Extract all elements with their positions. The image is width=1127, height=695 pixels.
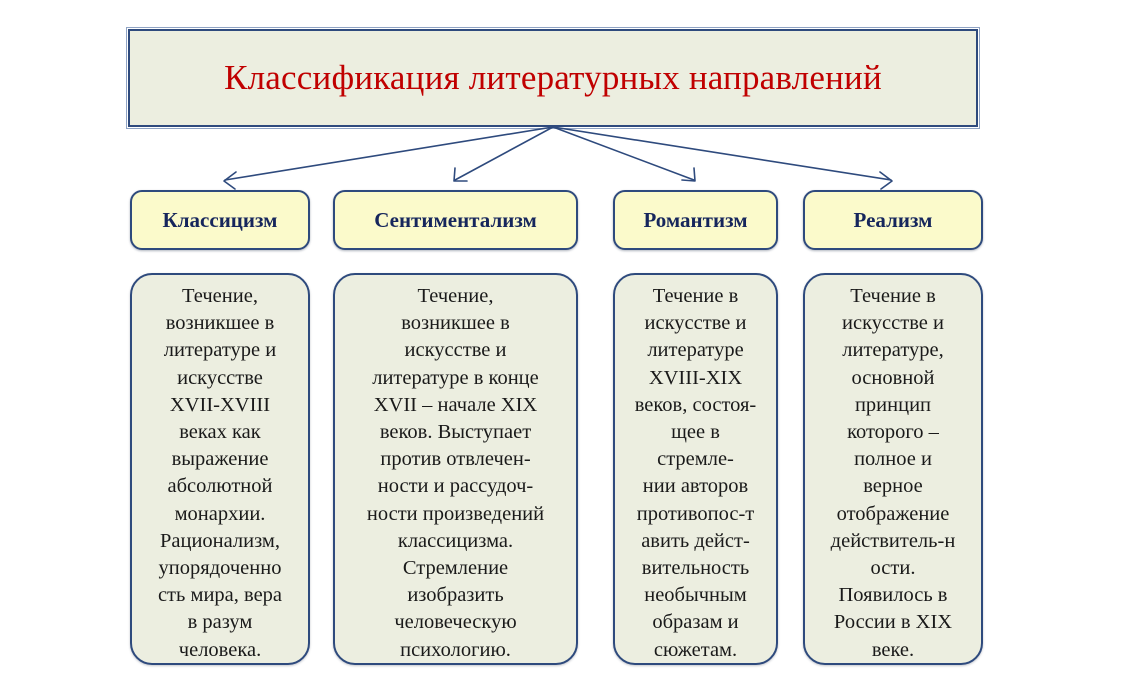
- page-title: Классификация литературных направлений: [224, 59, 882, 98]
- arrow-to-realism: [553, 127, 892, 189]
- arrow-to-sentimentalism: [454, 127, 553, 181]
- description-text: Течение, возникшее в литературе и искусс…: [138, 283, 302, 664]
- description-box-realism: Течение в искусстве и литературе, основн…: [803, 273, 983, 665]
- category-label: Классицизм: [163, 208, 278, 233]
- literary-movements-diagram: Классификация литературных направлений: [0, 0, 1127, 695]
- category-label: Романтизм: [643, 208, 747, 233]
- category-box-classicism[interactable]: Классицизм: [130, 190, 310, 250]
- category-label: Сентиментализм: [374, 208, 537, 233]
- description-box-sentimentalism: Течение, возникшее в искусстве и литерат…: [333, 273, 578, 665]
- diagram-title-box: Классификация литературных направлений: [128, 29, 978, 127]
- description-text: Течение в искусстве и литературе XVIII-X…: [621, 283, 770, 664]
- description-text: Течение в искусстве и литературе, основн…: [811, 283, 975, 664]
- category-label: Реализм: [854, 208, 933, 233]
- category-box-romanticism[interactable]: Романтизм: [613, 190, 778, 250]
- description-text: Течение, возникшее в искусстве и литерат…: [341, 283, 570, 664]
- description-box-romanticism: Течение в искусстве и литературе XVIII-X…: [613, 273, 778, 665]
- description-box-classicism: Течение, возникшее в литературе и искусс…: [130, 273, 310, 665]
- arrow-to-classicism: [224, 127, 553, 189]
- category-box-sentimentalism[interactable]: Сентиментализм: [333, 190, 578, 250]
- arrow-to-romanticism: [553, 127, 695, 181]
- category-box-realism[interactable]: Реализм: [803, 190, 983, 250]
